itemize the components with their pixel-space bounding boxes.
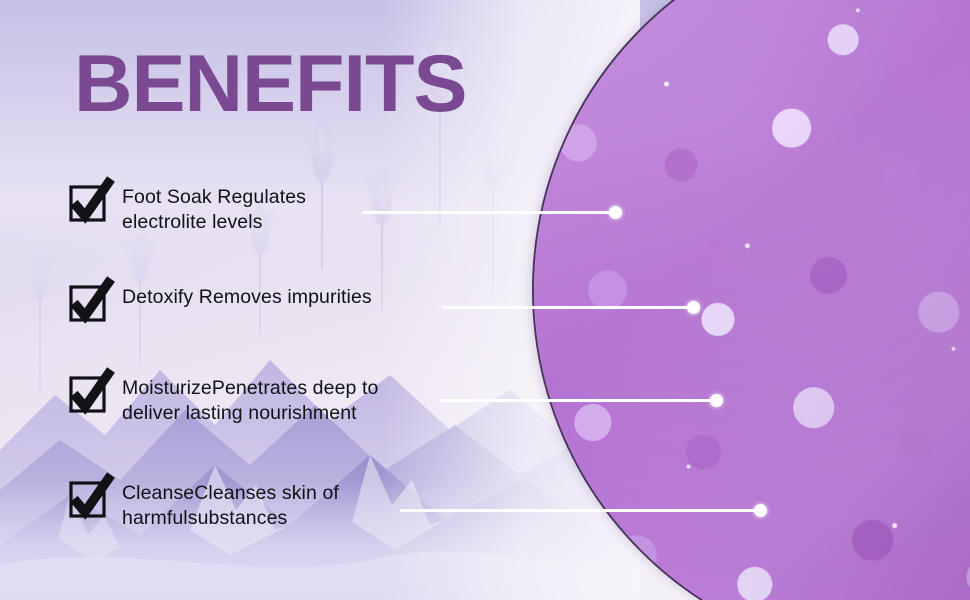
connector-dot-1 <box>609 206 622 219</box>
lavender-sprig-icon <box>470 130 516 300</box>
benefit-text: Foot Soak Regulates electrolite levels <box>122 184 306 235</box>
page-title: BENEFITS <box>74 44 467 125</box>
lavender-sprig-icon <box>20 250 60 390</box>
connector-dot-4 <box>754 504 767 517</box>
connector-line-3 <box>440 399 718 402</box>
benefit-item-cleanse: CleanseCleanses skin of harmfulsubstance… <box>70 480 339 531</box>
connector-line-2 <box>442 306 695 309</box>
connector-dot-2 <box>687 301 700 314</box>
connector-line-4 <box>400 509 762 512</box>
connector-line-1 <box>362 211 617 214</box>
checkbox-checked-icon <box>70 375 108 413</box>
checkbox-checked-icon <box>70 184 108 222</box>
benefits-banner: BENEFITS Foot Soak Regulates electrolite… <box>0 0 970 600</box>
benefit-item-moisturize: MoisturizePenetrates deep to deliver las… <box>70 375 378 426</box>
benefit-text: Detoxify Removes impurities <box>122 284 372 310</box>
checkbox-checked-icon <box>70 480 108 518</box>
benefit-text: CleanseCleanses skin of harmfulsubstance… <box>122 480 339 531</box>
benefit-text: MoisturizePenetrates deep to deliver las… <box>122 375 378 426</box>
lavender-sprig-icon <box>300 120 344 270</box>
connector-dot-3 <box>710 394 723 407</box>
checkbox-checked-icon <box>70 284 108 322</box>
benefit-item-detoxify: Detoxify Removes impurities <box>70 284 372 322</box>
benefit-item-foot-soak: Foot Soak Regulates electrolite levels <box>70 184 306 235</box>
